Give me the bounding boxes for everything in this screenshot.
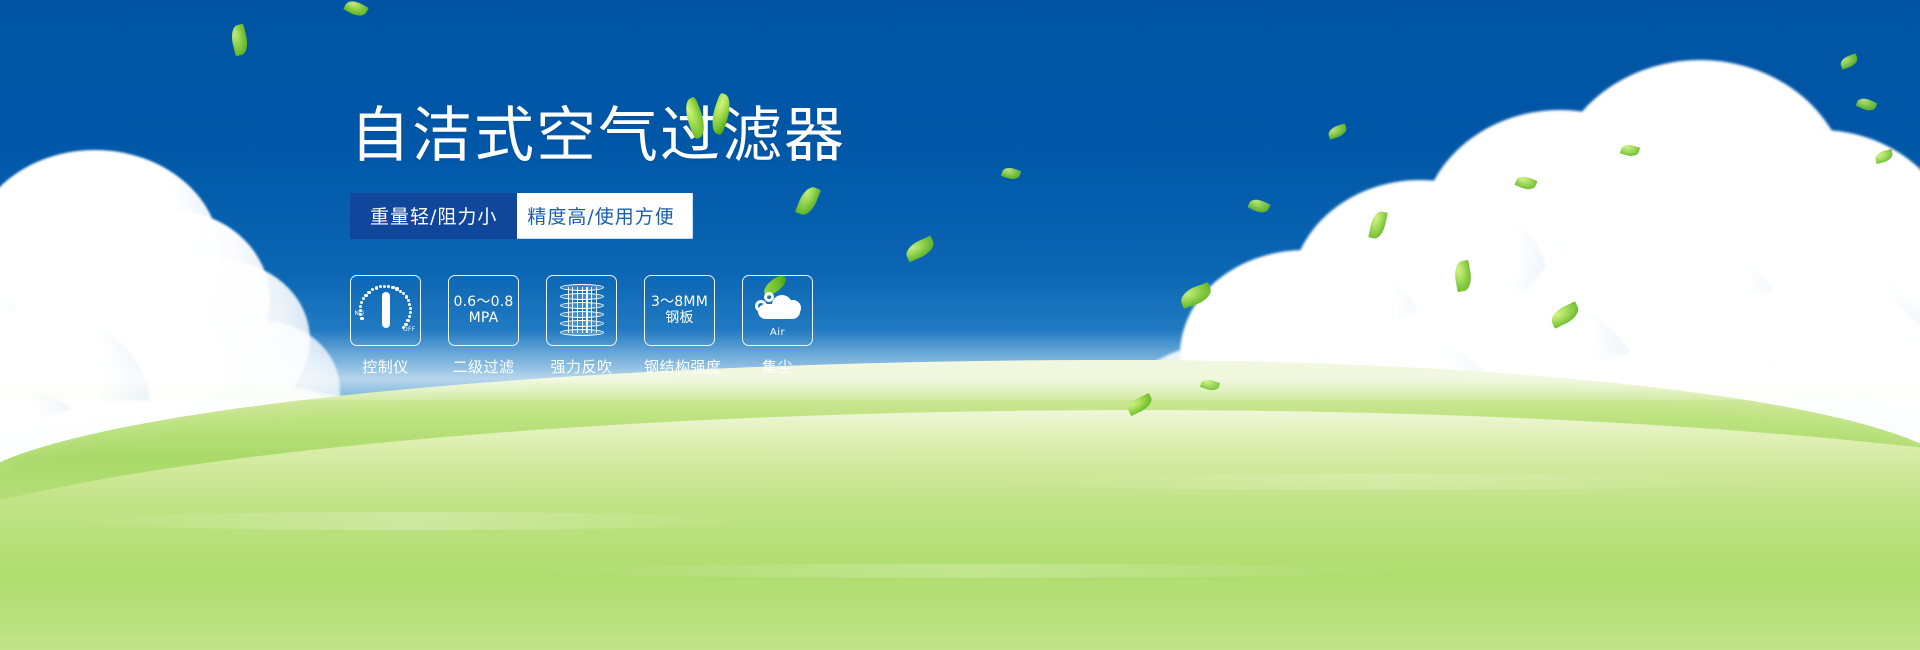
floating-leaf-icon: [1620, 143, 1640, 159]
gauge-tick-dot: [387, 285, 390, 288]
feature-label: 控制仪: [350, 356, 421, 377]
cloud-puff: [0, 150, 220, 360]
gauge-tick-dot: [360, 301, 363, 304]
sprout-leaf-right: [707, 92, 736, 135]
feature-backblow: 强力反吹: [546, 275, 617, 377]
floating-leaf-icon: [1856, 96, 1878, 114]
pressure-text-icon: 0.6～0.8 MPA: [448, 275, 519, 346]
floating-leaf-icon: [1247, 196, 1270, 215]
floating-leaf-icon: [1839, 53, 1860, 69]
cloud-puff: [1760, 210, 1920, 440]
cloud-puff: [70, 210, 270, 390]
feature-label: 钢结构强度: [644, 356, 715, 377]
air-label: Air: [770, 327, 785, 338]
feature-label: 二级过滤: [448, 356, 519, 377]
cloud-air-icon: Air: [742, 275, 813, 346]
gauge-tick-dot: [408, 315, 411, 318]
feature-controller: NO OFF 控制仪: [350, 275, 421, 377]
pressure-value-line2: MPA: [454, 310, 514, 327]
feature-dust-collection: Air 集尘: [742, 275, 813, 377]
cartridge-pleat-line: [586, 287, 587, 333]
gauge-tick-dot: [409, 307, 412, 310]
cloud-swirl: [755, 300, 767, 312]
gauge-tick-dot: [383, 285, 386, 288]
gauge-tick-dot: [407, 299, 410, 302]
steel-value-line1: 3～8MM: [651, 294, 708, 311]
pressure-value-line1: 0.6～0.8: [454, 294, 514, 311]
gauge-tick-dot: [406, 319, 409, 322]
two-leaf-sprout-icon: [683, 90, 741, 136]
feature-steel-strength: 3～8MM 钢板 钢结构强度: [644, 275, 715, 377]
cartridge-pleat-line: [596, 287, 597, 333]
gauge-tick-dot: [391, 286, 394, 289]
floating-leaf-icon: [229, 24, 251, 57]
floating-leaf-icon: [1548, 301, 1582, 329]
gauge-tick-dot: [360, 317, 363, 320]
gauge-tick-dot: [395, 287, 398, 290]
gauge-tick-dot: [371, 288, 374, 291]
floating-leaf-icon: [1368, 210, 1388, 240]
gauge-icon: NO OFF: [350, 275, 421, 346]
banner-content: 自洁式空气过滤器 重量轻/阻力小 精度高/使用方便 NO OFF 控: [350, 104, 1050, 377]
gauge-label-off: OFF: [403, 326, 416, 333]
feature-label: 集尘: [742, 356, 813, 377]
floating-leaf-icon: [1178, 282, 1214, 309]
feature-icon-row: NO OFF 控制仪 0.6～0.8 MPA 二级过滤: [350, 275, 1050, 377]
sprout-leaf-left: [680, 96, 710, 139]
cloud-puff: [0, 190, 140, 420]
filter-cartridge-icon: [546, 275, 617, 346]
gauge-tick-dot: [375, 286, 378, 289]
gauge-tick-dot: [402, 326, 405, 329]
gauge-tick-dot: [404, 323, 407, 326]
cartridge-pleat-line: [582, 287, 583, 333]
floating-leaf-icon: [343, 0, 369, 19]
subtitle-tag-bar: 重量轻/阻力小 精度高/使用方便: [350, 193, 668, 239]
steel-plate-text-icon: 3～8MM 钢板: [644, 275, 715, 346]
floating-leaf-icon: [1514, 174, 1537, 193]
feature-label: 强力反吹: [546, 356, 617, 377]
tag-precision-convenience: 精度高/使用方便: [501, 193, 692, 239]
tag-weight-resistance: 重量轻/阻力小: [350, 193, 517, 239]
hero-banner: 自洁式空气过滤器 重量轻/阻力小 精度高/使用方便 NO OFF 控: [0, 0, 1920, 650]
cartridge-pleat-line: [568, 287, 569, 333]
floating-leaf-icon: [1453, 260, 1474, 292]
cloud-shape: [752, 282, 804, 326]
feature-two-stage-filter: 0.6～0.8 MPA 二级过滤: [448, 275, 519, 377]
cartridge-pleat-line: [591, 287, 592, 333]
gauge-tick-dot: [362, 297, 365, 300]
gauge-needle-bar: [382, 292, 390, 328]
cloud-puff: [1550, 60, 1850, 330]
steel-value-line2: 钢板: [651, 310, 708, 327]
gauge-tick-dot: [367, 291, 370, 294]
gauge-tick-dot: [364, 294, 367, 297]
floating-leaf-icon: [1874, 149, 1894, 164]
cartridge-pleat-line: [577, 287, 578, 333]
cloud-puff: [1880, 160, 1920, 340]
gauge-tick-dot: [408, 303, 411, 306]
cloud-puff: [130, 260, 310, 420]
cloud-puff: [0, 270, 40, 470]
cartridge-pleat-line: [572, 287, 573, 333]
cloud-swirl: [764, 292, 774, 302]
gauge-tick-dot: [379, 285, 382, 288]
gauge-tick-dot: [359, 305, 362, 308]
cloud-puff: [1680, 130, 1920, 390]
cloud-puff: [1420, 110, 1700, 360]
gauge-tick-dot: [409, 311, 412, 314]
floating-leaf-icon: [1327, 123, 1348, 139]
